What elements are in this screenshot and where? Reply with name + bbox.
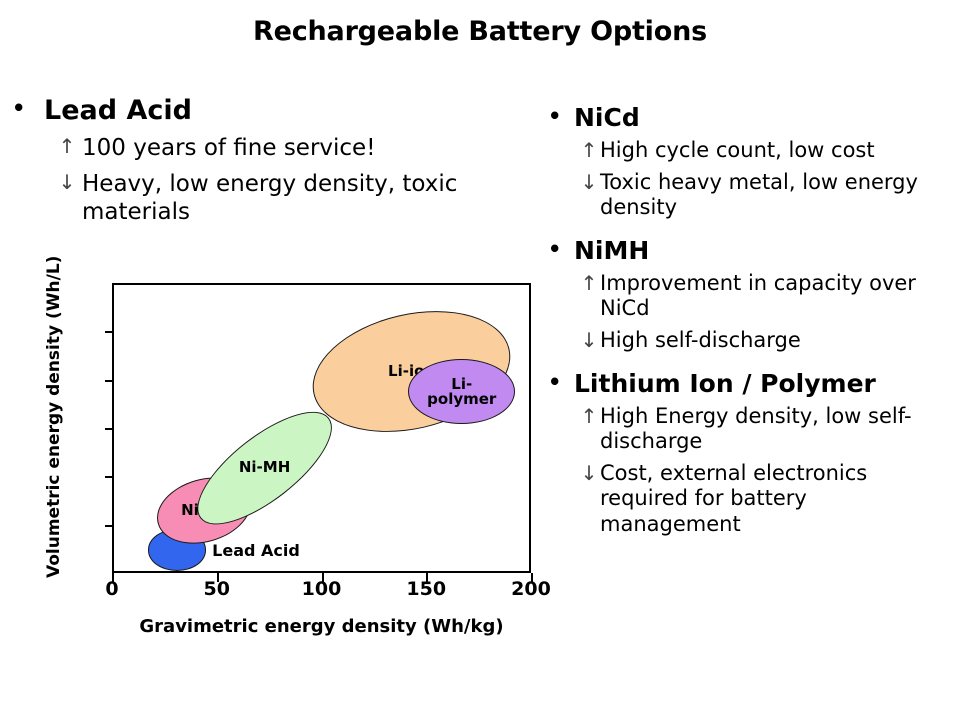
x-tick-mark xyxy=(217,573,219,582)
bullet-icon: • xyxy=(12,96,44,120)
topic-heading-row: • Lithium Ion / Polymer xyxy=(548,370,954,398)
topic-nicd: • NiCd ↑ High cycle count, low cost ↓ To… xyxy=(548,104,954,221)
topic-lead-acid: • Lead Acid ↑ 100 years of fine service!… xyxy=(12,96,472,226)
bullet-icon: • xyxy=(548,237,574,261)
right-column: • NiCd ↑ High cycle count, low cost ↓ To… xyxy=(548,104,954,538)
topic-heading-label: Lithium Ion / Polymer xyxy=(574,370,876,398)
topic-point-label: High self-discharge xyxy=(600,328,954,354)
x-tick-mark xyxy=(426,573,428,582)
arrow-up-icon: ↑ xyxy=(578,271,600,296)
chart-region-label: Li- polymer xyxy=(427,377,496,408)
bullet-icon: • xyxy=(548,104,574,128)
arrow-down-icon: ↓ xyxy=(578,328,600,353)
topic-point: ↑ High Energy density, low self-discharg… xyxy=(578,404,954,455)
chart-region-ni-mh: Ni-MH xyxy=(181,392,349,543)
topic-point: ↑ 100 years of fine service! xyxy=(52,134,472,162)
topic-nimh: • NiMH ↑ Improvement in capacity over Ni… xyxy=(548,237,954,354)
topic-point: ↓ Toxic heavy metal, low energy density xyxy=(578,170,954,221)
topic-heading-label: NiCd xyxy=(574,104,640,132)
plot-area: Lead AcidNi-CdNi-MHLi-ionLi- polymer xyxy=(112,283,531,573)
x-axis-title: Gravimetric energy density (Wh/kg) xyxy=(112,616,531,637)
topic-point: ↑ Improvement in capacity over NiCd xyxy=(578,271,954,322)
arrow-down-icon: ↓ xyxy=(578,170,600,195)
chart-region-label: Ni-MH xyxy=(239,460,290,475)
arrow-up-icon: ↑ xyxy=(578,138,600,163)
topic-lithium-ion-polymer: • Lithium Ion / Polymer ↑ High Energy de… xyxy=(548,370,954,538)
topic-heading-row: • Lead Acid xyxy=(12,96,472,126)
topic-point-label: High Energy density, low self-discharge xyxy=(600,404,954,455)
x-tick-label: 0 xyxy=(77,580,147,599)
arrow-up-icon: ↑ xyxy=(578,404,600,429)
arrow-down-icon: ↓ xyxy=(578,461,600,486)
topic-point: ↓ Heavy, low energy density, toxic mater… xyxy=(52,170,472,226)
arrow-down-icon: ↓ xyxy=(52,170,82,195)
x-tick-mark xyxy=(322,573,324,582)
topic-point-label: Toxic heavy metal, low energy density xyxy=(600,170,954,221)
topic-point-label: Heavy, low energy density, toxic materia… xyxy=(82,170,472,226)
topic-point: ↑ High cycle count, low cost xyxy=(578,138,954,164)
topic-point-label: Cost, external electronics required for … xyxy=(600,461,954,538)
y-axis-title: Volumetric energy density (Wh/L) xyxy=(44,278,64,578)
topic-point-label: Improvement in capacity over NiCd xyxy=(600,271,954,322)
topic-heading-row: • NiMH xyxy=(548,237,954,265)
topic-point-label: High cycle count, low cost xyxy=(600,138,954,164)
x-tick-label: 50 xyxy=(182,580,252,599)
x-tick-label: 100 xyxy=(287,580,357,599)
chart-region-label: Lead Acid xyxy=(212,541,300,560)
topic-point-label: 100 years of fine service! xyxy=(82,134,472,162)
topic-point: ↓ Cost, external electronics required fo… xyxy=(578,461,954,538)
topic-heading-label: NiMH xyxy=(574,237,649,265)
arrow-up-icon: ↑ xyxy=(52,134,82,159)
x-tick-mark xyxy=(112,573,114,582)
battery-energy-density-chart: Volumetric energy density (Wh/L) Gravime… xyxy=(0,268,560,658)
x-tick-label: 200 xyxy=(496,580,566,599)
x-tick-label: 150 xyxy=(391,580,461,599)
x-tick-mark xyxy=(531,573,533,582)
chart-region-li-polymer: Li- polymer xyxy=(408,359,515,424)
topic-heading-label: Lead Acid xyxy=(44,96,192,126)
topic-point: ↓ High self-discharge xyxy=(578,328,954,354)
topic-heading-row: • NiCd xyxy=(548,104,954,132)
page-title: Rechargeable Battery Options xyxy=(0,16,960,47)
